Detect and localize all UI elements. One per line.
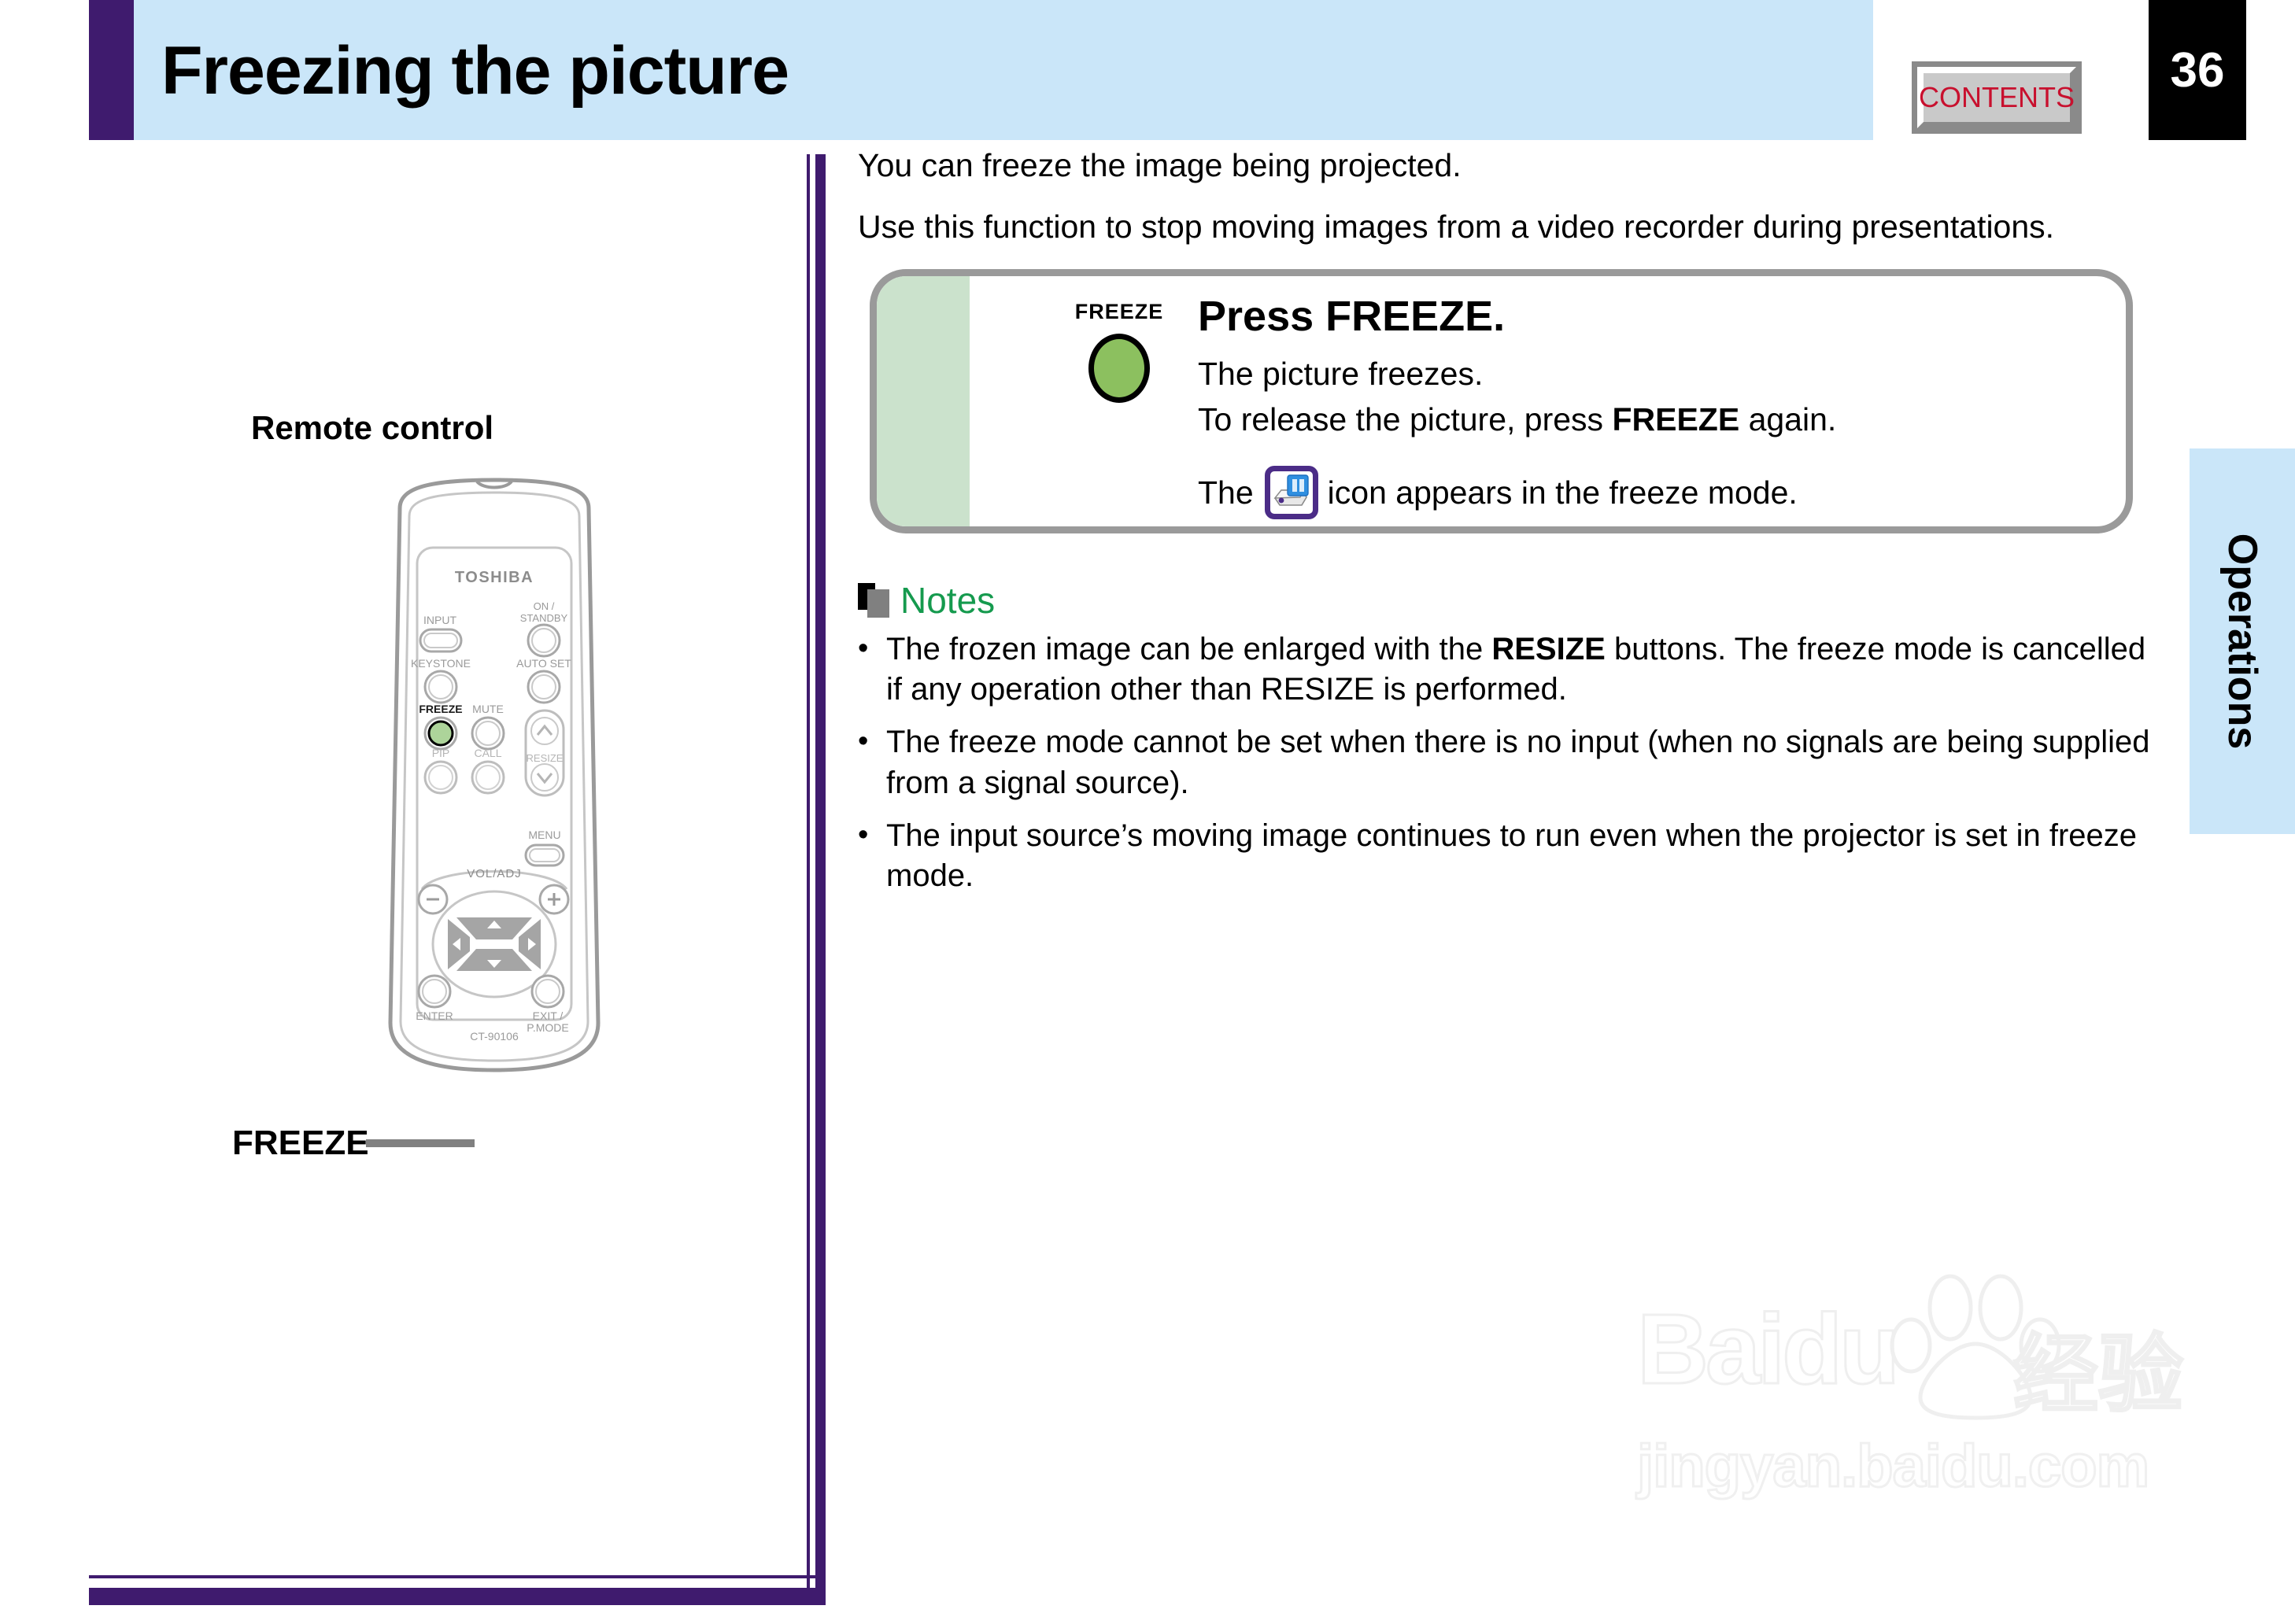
- pause-bar-left: [1292, 479, 1297, 492]
- on-standby-button-inner: [532, 629, 556, 652]
- menu-button-inner: [530, 849, 560, 862]
- column-divider-thin: [807, 154, 810, 1600]
- page-number-box: 36: [2149, 0, 2246, 140]
- contents-button-label: CONTENTS: [1924, 73, 2070, 122]
- watermark-brand: Baidu: [1637, 1292, 1897, 1406]
- instruction-text-block: Press FREEZE. The picture freezes. To re…: [1198, 293, 2102, 519]
- input-button-inner: [424, 633, 457, 648]
- instruction-line-2: To release the picture, press FREEZE aga…: [1198, 400, 2102, 439]
- instruction-icon-line: The icon appears in the freeze mode.: [1198, 466, 2102, 519]
- enter-label: ENTER: [416, 1009, 453, 1022]
- auto-set-label: AUTO SET: [516, 657, 571, 670]
- notes-title: Notes: [900, 582, 995, 618]
- instruction-freeze-button-label: FREEZE: [1048, 300, 1190, 324]
- remote-model-label: CT-90106: [470, 1030, 519, 1043]
- note-item: • The freeze mode cannot be set when the…: [858, 722, 2164, 803]
- pip-button-inner: [429, 766, 453, 789]
- note-bullet: •: [858, 629, 886, 710]
- on-standby-label-line1: ON /: [534, 600, 555, 612]
- notes-icon: [858, 583, 889, 618]
- page-number: 36: [2149, 0, 2246, 140]
- keystone-button-inner: [429, 675, 453, 699]
- freeze-callout-label: FREEZE: [232, 1124, 369, 1163]
- pip-label: PIP: [432, 747, 450, 759]
- exit-pmode-label-line2: P.MODE: [527, 1021, 568, 1034]
- pause-badge: [1288, 475, 1308, 496]
- page-title: Freezing the picture: [161, 24, 789, 118]
- instruction-heading: Press FREEZE.: [1198, 293, 2102, 340]
- instruction-icon-line-suffix: icon appears in the freeze mode.: [1328, 474, 1798, 511]
- note-text-prefix: The frozen image can be enlarged with th…: [886, 632, 1491, 666]
- exit-pmode-button-inner: [536, 980, 560, 1003]
- instruction-line-2-suffix: again.: [1739, 401, 1836, 437]
- intro-line-1: You can freeze the image being projected…: [858, 149, 2180, 182]
- input-label: INPUT: [423, 614, 456, 626]
- instruction-freeze-button-group: FREEZE: [1048, 300, 1190, 403]
- page-header: Freezing the picture CONTENTS 36: [0, 0, 2295, 140]
- call-button-inner: [476, 766, 500, 789]
- note-bullet: •: [858, 816, 886, 896]
- freeze-mode-projector-pause-icon: [1265, 466, 1318, 519]
- column-divider-thick: [815, 154, 826, 1600]
- instruction-inner: FREEZE Press FREEZE. The picture freezes…: [970, 276, 2126, 526]
- note-text: The input source’s moving image continue…: [886, 816, 2164, 896]
- exit-pmode-label-line1: EXIT /: [533, 1009, 564, 1022]
- freeze-label: FREEZE: [419, 703, 462, 715]
- auto-set-button-inner: [532, 675, 556, 699]
- freeze-callout-leader-line: [366, 1139, 475, 1147]
- mute-label: MUTE: [472, 703, 504, 715]
- remote-brand-label: TOSHIBA: [455, 569, 534, 586]
- remote-control-caption: Remote control: [89, 409, 656, 447]
- remote-control-illustration: TOSHIBA ON / STANDBY INPUT KEYSTONE AUTO…: [368, 472, 620, 1094]
- instruction-line-2-prefix: To release the picture, press: [1198, 401, 1612, 437]
- instruction-freeze-button[interactable]: [1088, 334, 1150, 403]
- main-content: You can freeze the image being projected…: [858, 149, 2180, 272]
- watermark-url: jingyan.baidu.com: [1637, 1432, 2149, 1500]
- contents-button[interactable]: CONTENTS: [1917, 67, 2076, 128]
- enter-button-inner: [423, 980, 446, 1003]
- instruction-line-2-bold: FREEZE: [1612, 401, 1739, 437]
- instruction-accent-strip: [877, 276, 970, 526]
- vol-adj-label: VOL/ADJ: [467, 867, 522, 880]
- notes-icon-front-square: [867, 589, 889, 618]
- notes-header: Notes: [858, 582, 2164, 618]
- bottom-rule-thin: [89, 1575, 817, 1578]
- keystone-label: KEYSTONE: [411, 657, 471, 670]
- note-text-bold: RESIZE: [1491, 632, 1605, 666]
- projector-lens: [1278, 498, 1284, 504]
- section-tab-operations[interactable]: Operations: [2190, 448, 2295, 834]
- menu-label: MENU: [528, 829, 560, 841]
- note-item: • The frozen image can be enlarged with …: [858, 629, 2164, 710]
- note-text: The frozen image can be enlarged with th…: [886, 629, 2164, 710]
- instruction-line-1: The picture freezes.: [1198, 354, 2102, 393]
- note-bullet: •: [858, 722, 886, 803]
- header-accent-bar: [89, 0, 134, 140]
- note-item: • The input source’s moving image contin…: [858, 816, 2164, 896]
- intro-line-2: Use this function to stop moving images …: [858, 211, 2180, 243]
- instruction-icon-line-prefix: The: [1198, 474, 1254, 511]
- notes-block: Notes • The frozen image can be enlarged…: [858, 582, 2164, 909]
- pause-bar-right: [1299, 479, 1304, 492]
- section-tab-label: Operations: [2219, 533, 2266, 750]
- remote-control-figure: Remote control FREEZE TOSHIBA ON / STAND…: [89, 409, 807, 1117]
- baidu-watermark: Baidu 经验 jingyan.baidu.com: [1629, 1275, 2212, 1511]
- bottom-rule-thick: [89, 1588, 826, 1605]
- on-standby-label-line2: STANDBY: [520, 612, 568, 624]
- note-text: The freeze mode cannot be set when there…: [886, 722, 2164, 803]
- mute-button-inner: [476, 722, 500, 745]
- watermark-brand-row: Baidu 经验: [1629, 1275, 2212, 1424]
- resize-label: RESIZE: [527, 752, 564, 764]
- resize-down-button[interactable]: [531, 764, 558, 791]
- baidu-paw-icon: [1889, 1259, 2078, 1424]
- freeze-button[interactable]: [429, 722, 453, 745]
- call-label: CALL: [474, 747, 501, 759]
- resize-up-button[interactable]: [531, 718, 558, 744]
- instruction-box: FREEZE Press FREEZE. The picture freezes…: [870, 269, 2133, 533]
